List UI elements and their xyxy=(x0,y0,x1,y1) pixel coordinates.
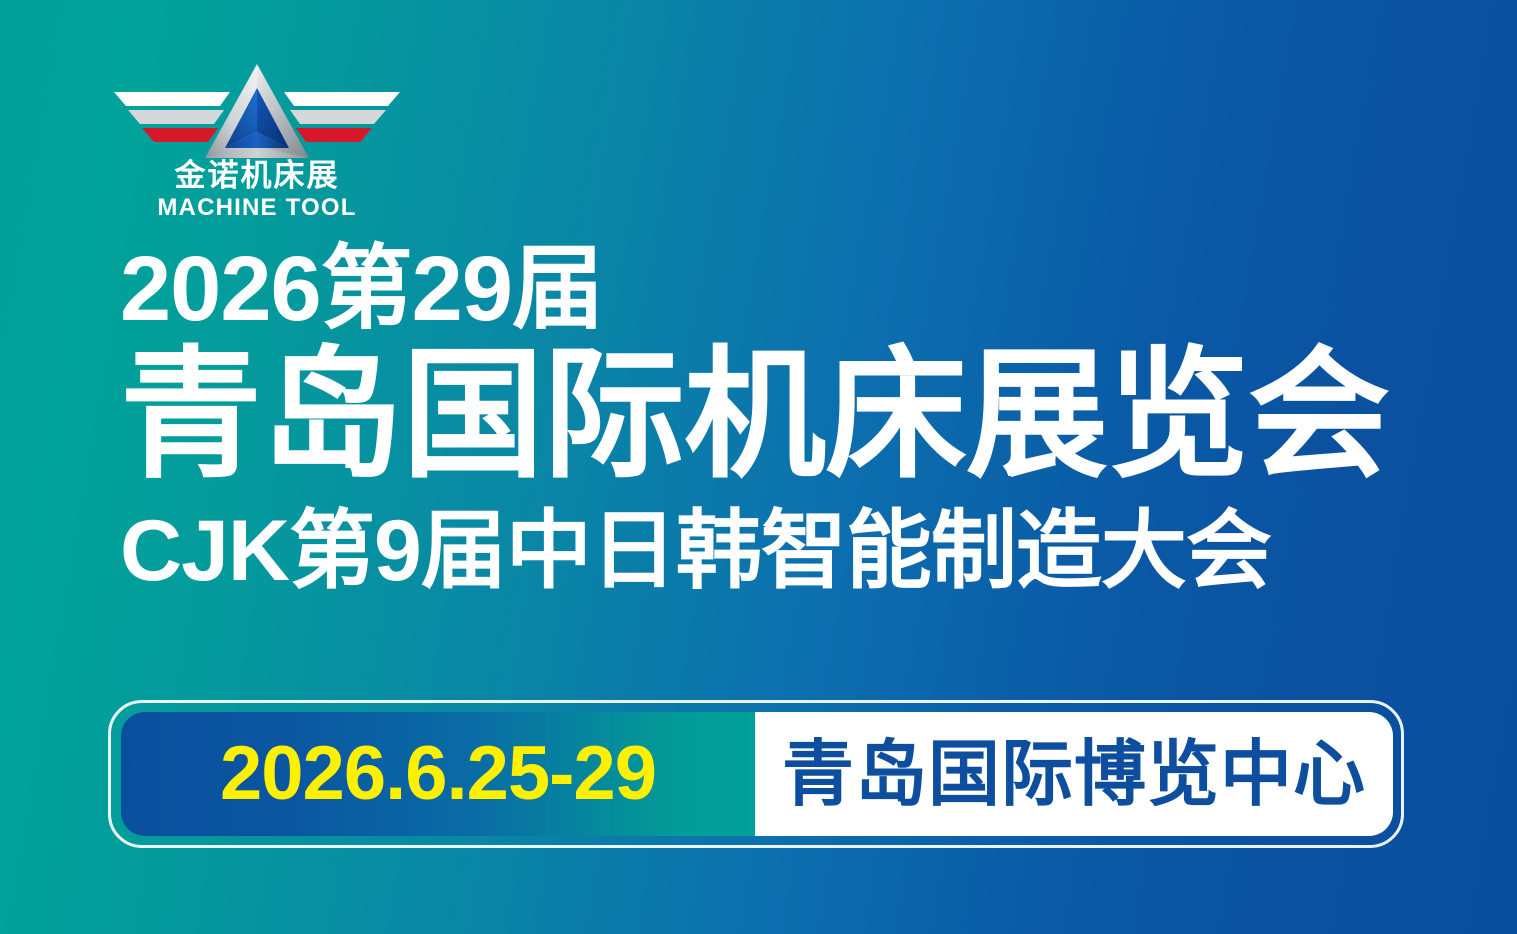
headline-main-title: 青岛国际机床展览会 xyxy=(120,341,1420,492)
logo-block: 金诺机床展 MACHINE TOOL xyxy=(112,62,402,217)
exhibition-poster: 金诺机床展 MACHINE TOOL 2026第29届 青岛国际机床展览会 CJ… xyxy=(0,0,1517,934)
triangle-emblem-icon xyxy=(199,62,315,162)
headline-subtitle: CJK第9届中日韩智能制造大会 xyxy=(120,506,1420,596)
logo-name-cn: 金诺机床展 xyxy=(112,160,402,193)
venue-panel: 青岛国际博览中心 xyxy=(755,712,1393,836)
headline-year: 2026第29届 xyxy=(120,243,1420,335)
logo-name-en: MACHINE TOOL xyxy=(112,194,402,222)
event-venue: 青岛国际博览中心 xyxy=(782,738,1366,810)
date-panel: 2026.6.25-29 xyxy=(121,712,755,836)
headline-block: 2026第29届 青岛国际机床展览会 CJK第9届中日韩智能制造大会 xyxy=(120,243,1420,596)
logo-wordmark: 金诺机床展 MACHINE TOOL xyxy=(112,160,402,221)
infobar: 2026.6.25-29 青岛国际博览中心 xyxy=(121,712,1393,836)
event-date: 2026.6.25-29 xyxy=(220,736,656,812)
logo-mark xyxy=(112,62,402,162)
